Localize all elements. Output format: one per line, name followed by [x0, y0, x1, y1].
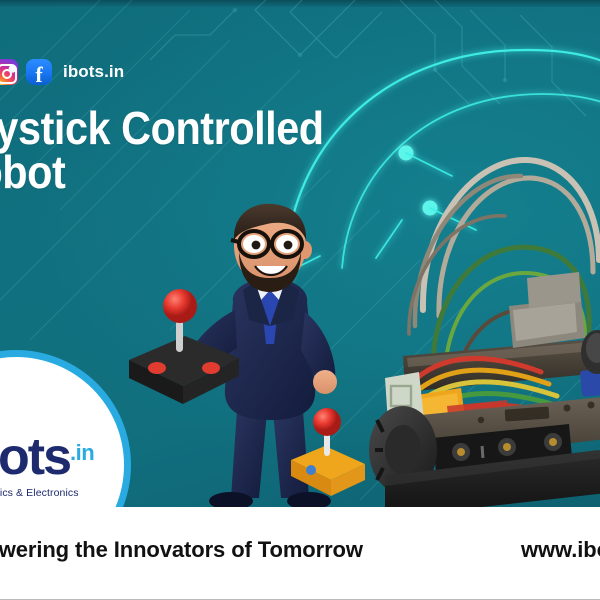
brand-logo-wordmark: ibots.in [0, 431, 94, 483]
facebook-icon[interactable]: f [26, 59, 52, 85]
social-links-row[interactable]: f ibots.in [0, 59, 124, 85]
footer-website-url[interactable]: www.ibots.in [521, 537, 600, 563]
brand-logo-tld: .in [70, 440, 94, 465]
title-line-2: Robot [0, 150, 416, 194]
poster-canvas: f ibots.in Joystick Controlled Robot ibo… [0, 0, 600, 600]
brand-logo-tagline: Robotics & Electronics [0, 487, 79, 499]
facebook-glyph: f [35, 64, 42, 86]
page-title: Joystick Controlled Robot [0, 106, 416, 194]
brand-logo-name: ibots [0, 428, 70, 486]
brand-logo-badge[interactable]: ibots.in Robotics & Electronics [0, 357, 124, 507]
instagram-icon[interactable] [0, 59, 18, 85]
footer-tagline: Empowering the Innovators of Tomorrow [0, 537, 363, 563]
businessman-mascot-illustration [175, 198, 365, 507]
footer-bar: Empowering the Innovators of Tomorrow ww… [0, 507, 600, 600]
robot-car-photo [385, 120, 600, 507]
brand-logo-content: ibots.in Robotics & Electronics [0, 357, 124, 507]
social-handle-text: ibots.in [63, 62, 124, 82]
hero-top-strip [0, 0, 600, 7]
hero-panel: f ibots.in Joystick Controlled Robot ibo… [0, 0, 600, 507]
